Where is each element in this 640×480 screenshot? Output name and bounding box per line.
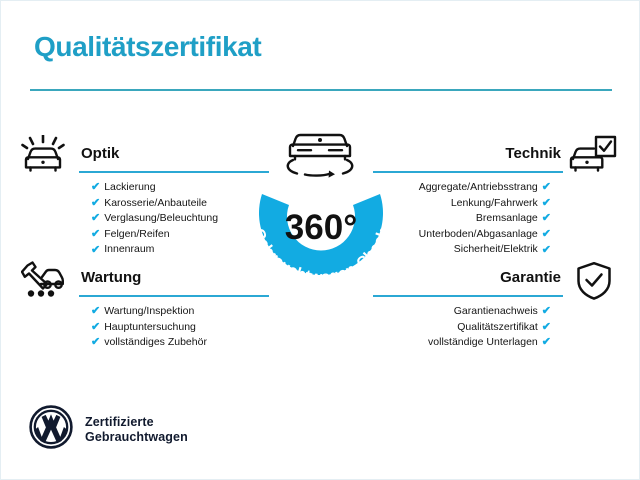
checklist-garantie: Garantienachweis✔ Qualitätszertifikat✔ v…	[373, 304, 563, 351]
section-header-optik: Optik	[79, 145, 269, 175]
section-title-optik: Optik	[79, 145, 269, 163]
check-icon: ✔	[542, 306, 551, 317]
check-icon: ✔	[542, 229, 551, 240]
list-item-label: Garantienachweis	[454, 304, 538, 320]
check-icon: ✔	[542, 213, 551, 224]
list-item-label: Lackierung	[104, 180, 155, 196]
check-icon: ✔	[542, 322, 551, 333]
section-header-wartung: Wartung	[79, 269, 269, 299]
list-item: vollständige Unterlagen✔	[373, 335, 551, 351]
list-item: ✔Verglasung/Beleuchtung	[91, 211, 269, 227]
list-item: ✔Wartung/Inspektion	[91, 304, 269, 320]
check-icon: ✔	[91, 182, 100, 193]
checklist-optik: ✔Lackierung ✔Karosserie/Anbauteile ✔Verg…	[79, 180, 269, 258]
check-icon: ✔	[542, 337, 551, 348]
badge-center-label: 360°	[285, 208, 357, 247]
section-divider-optik	[79, 171, 269, 173]
list-item-label: Aggregate/Antriebsstrang	[419, 180, 538, 196]
check-icon: ✔	[542, 182, 551, 193]
section-header-garantie: Garantie	[373, 269, 563, 299]
list-item-label: vollständiges Zubehör	[104, 335, 207, 351]
list-item: Garantienachweis✔	[373, 304, 551, 320]
section-wartung: Wartung ✔Wartung/Inspektion ✔Hauptunters…	[79, 269, 269, 351]
section-title-garantie: Garantie	[373, 269, 563, 287]
section-title-wartung: Wartung	[79, 269, 269, 287]
list-item-label: Hauptuntersuchung	[104, 320, 196, 336]
footer-line-2: Gebrauchtwagen	[85, 430, 188, 445]
volkswagen-logo	[29, 405, 73, 454]
list-item-label: Karosserie/Anbauteile	[104, 196, 207, 212]
checklist-technik: Aggregate/Antriebsstrang✔ Lenkung/Fahrwe…	[373, 180, 563, 258]
check-icon: ✔	[91, 322, 100, 333]
list-item: ✔Felgen/Reifen	[91, 227, 269, 243]
check-icon: ✔	[91, 213, 100, 224]
list-item-label: Unterboden/Abgasanlage	[419, 227, 538, 243]
list-item-label: Sicherheit/Elektrik	[454, 242, 538, 258]
list-item-label: Qualitätszertifikat	[457, 320, 538, 336]
list-item: ✔vollständiges Zubehör	[91, 335, 269, 351]
section-title-technik: Technik	[373, 145, 563, 163]
section-divider-wartung	[79, 295, 269, 297]
list-item: Bremsanlage✔	[373, 211, 551, 227]
list-item: ✔Lackierung	[91, 180, 269, 196]
list-item: ✔Karosserie/Anbauteile	[91, 196, 269, 212]
list-item: Lenkung/Fahrwerk✔	[373, 196, 551, 212]
check-icon: ✔	[91, 198, 100, 209]
list-item-label: Bremsanlage	[476, 211, 538, 227]
check-icon: ✔	[91, 306, 100, 317]
list-item-label: Felgen/Reifen	[104, 227, 169, 243]
car-shine-icon	[21, 135, 67, 180]
page-title: Qualitätszertifikat	[34, 33, 261, 61]
list-item-label: Verglasung/Beleuchtung	[104, 211, 218, 227]
certificate-page: Qualitätszertifikat	[0, 0, 640, 480]
wrench-car-icon	[21, 259, 67, 304]
check-icon: ✔	[91, 337, 100, 348]
section-divider-technik	[373, 171, 563, 173]
section-divider-garantie	[373, 295, 563, 297]
check-icon: ✔	[542, 198, 551, 209]
footer-brand: Zertifizierte Gebrauchtwagen	[29, 405, 188, 454]
list-item-label: Wartung/Inspektion	[104, 304, 194, 320]
check-icon: ✔	[91, 245, 100, 256]
footer-text: Zertifizierte Gebrauchtwagen	[85, 415, 188, 445]
list-item: Qualitätszertifikat✔	[373, 320, 551, 336]
section-garantie: Garantie Garantienachweis✔ Qualitätszert…	[373, 269, 563, 351]
list-item: Sicherheit/Elektrik✔	[373, 242, 551, 258]
section-header-technik: Technik	[373, 145, 563, 175]
list-item: ✔Hauptuntersuchung	[91, 320, 269, 336]
list-item-label: Lenkung/Fahrwerk	[451, 196, 538, 212]
car-checkbox-icon	[567, 135, 617, 180]
section-technik: Technik Aggregate/Antriebsstrang✔ Lenkun…	[373, 145, 563, 258]
list-item-label: Innenraum	[104, 242, 154, 258]
check-icon: ✔	[91, 229, 100, 240]
list-item: Unterboden/Abgasanlage✔	[373, 227, 551, 243]
car-rotation-icon	[288, 135, 352, 178]
list-item-label: vollständige Unterlagen	[428, 335, 538, 351]
section-optik: Optik ✔Lackierung ✔Karosserie/Anbauteile…	[79, 145, 269, 258]
list-item: ✔Innenraum	[91, 242, 269, 258]
title-divider	[30, 89, 612, 91]
checklist-wartung: ✔Wartung/Inspektion ✔Hauptuntersuchung ✔…	[79, 304, 269, 351]
check-icon: ✔	[542, 245, 551, 256]
list-item: Aggregate/Antriebsstrang✔	[373, 180, 551, 196]
shield-check-icon	[575, 261, 613, 306]
footer-line-1: Zertifizierte	[85, 415, 188, 430]
